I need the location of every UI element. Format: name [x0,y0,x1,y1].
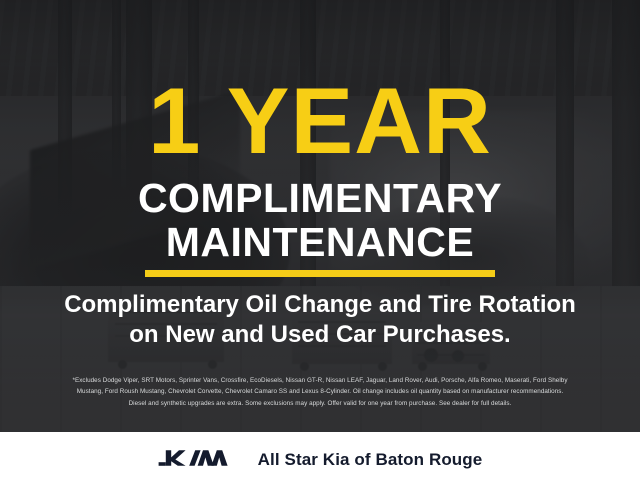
banner-content: 1 YEAR COMPLIMENTARY MAINTENANCE Complim… [0,0,640,432]
disclaimer-line-3: Diesel and synthetic upgrades are extra.… [8,398,632,409]
offer-description-line-2: on New and Used Car Purchases. [0,322,640,348]
disclaimer-line-2: Mustang, Ford Roush Mustang, Chevrolet C… [8,386,632,397]
dealer-name: All Star Kia of Baton Rouge [258,450,483,470]
headline-year: 1 YEAR [0,74,640,168]
footer-bar: All Star Kia of Baton Rouge [0,432,640,488]
kia-logo-icon [158,447,236,474]
disclaimer-line-1: *Excludes Dodge Viper, SRT Motors, Sprin… [8,375,632,386]
promotional-banner: 1 YEAR COMPLIMENTARY MAINTENANCE Complim… [0,0,640,488]
footer-branding: All Star Kia of Baton Rouge [158,447,483,474]
disclaimer-text: *Excludes Dodge Viper, SRT Motors, Sprin… [8,375,632,409]
headline-complimentary: COMPLIMENTARY [0,178,640,219]
offer-description-line-1: Complimentary Oil Change and Tire Rotati… [0,292,640,318]
headline-maintenance: MAINTENANCE [0,222,640,263]
yellow-divider-bar [145,270,495,277]
